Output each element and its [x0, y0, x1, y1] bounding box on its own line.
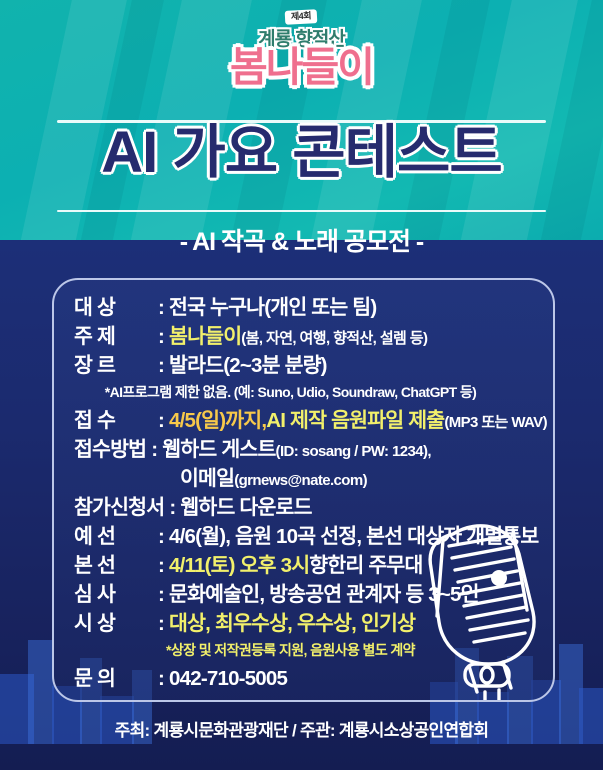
- details-panel: 대 상 : 전국 누구나(개인 또는 팀) 주 제 : 봄나들이 (봄, 자연,…: [52, 278, 555, 702]
- logo-name: 봄나들이: [0, 48, 603, 87]
- detail-value: 발라드(2~3분 분량): [169, 351, 327, 380]
- detail-value-highlight: 대상, 최우수상, 우수상, 인기상: [169, 609, 415, 638]
- divider-bottom: [57, 210, 546, 212]
- contact-phone: 042-710-5005: [169, 664, 287, 693]
- detail-label: 장 르: [74, 351, 158, 380]
- detail-colon: :: [158, 293, 164, 322]
- detail-row-submission: 접 수 : 4/5(일)까지, AI 제작 음원파일 제출 (MP3 또는 WA…: [54, 406, 553, 435]
- detail-row-application-form: 참가신청서 : 웹하드 다운로드: [54, 493, 553, 522]
- detail-label: 대 상: [74, 293, 158, 322]
- detail-value-note: (MP3 또는 WAV): [444, 412, 547, 433]
- detail-label: 문 의: [74, 664, 158, 693]
- detail-colon: :: [158, 351, 164, 380]
- detail-value-note: (봄, 자연, 여행, 향적산, 설렘 등): [241, 328, 427, 349]
- event-logo: 제4회 계룡 향적산 봄나들이: [0, 6, 603, 87]
- detail-value-highlight: 봄나들이: [169, 322, 241, 351]
- detail-colon: :: [158, 551, 164, 580]
- logo-edition: 제4회: [285, 9, 318, 25]
- detail-value: 웹하드 게스트: [162, 435, 275, 464]
- detail-credentials: (ID: sosang / PW: 1234),: [276, 441, 431, 462]
- detail-row-preliminary: 예 선 : 4/6(월), 음원 10곡 선정, 본선 대상자 개별통보: [54, 522, 553, 551]
- detail-value-highlight: AI 제작 음원파일 제출: [266, 406, 444, 435]
- detail-value: 전국 누구나(개인 또는 팀): [169, 293, 376, 322]
- detail-colon: :: [158, 664, 164, 693]
- email-label: 이메일: [180, 464, 234, 493]
- detail-row-submission-method: 접수방법 : 웹하드 게스트 (ID: sosang / PW: 1234),: [54, 435, 553, 464]
- detail-label: 본 선: [74, 551, 158, 580]
- detail-label: 시 상: [74, 609, 158, 638]
- detail-colon: :: [158, 522, 164, 551]
- detail-final-datetime: 4/11(토) 오후 3시: [169, 551, 309, 580]
- detail-label: 접 수: [74, 406, 158, 435]
- detail-row-theme: 주 제 : 봄나들이 (봄, 자연, 여행, 향적산, 설렘 등): [54, 322, 553, 351]
- detail-row-target: 대 상 : 전국 누구나(개인 또는 팀): [54, 293, 553, 322]
- detail-colon: :: [158, 580, 164, 609]
- details-list: 대 상 : 전국 누구나(개인 또는 팀) 주 제 : 봄나들이 (봄, 자연,…: [54, 280, 553, 693]
- detail-label: 예 선: [74, 522, 158, 551]
- detail-final-venue: 향한리 주무대: [309, 551, 422, 580]
- detail-row-judges: 심 사 : 문화예술인, 방송공연 관계자 등 3~5인: [54, 580, 553, 609]
- detail-colon: :: [169, 493, 175, 522]
- detail-colon: :: [158, 406, 164, 435]
- detail-row-awards: 시 상 : 대상, 최우수상, 우수상, 인기상: [54, 609, 553, 638]
- detail-row-final: 본 선 : 4/11(토) 오후 3시 향한리 주무대: [54, 551, 553, 580]
- detail-row-email: 이메일 (grnews@nate.com): [54, 464, 553, 493]
- note-prize-support: *상장 및 저작권등록 지원, 음원사용 별도 계약: [54, 638, 553, 663]
- detail-colon: :: [151, 435, 157, 464]
- detail-value: 문화예술인, 방송공연 관계자 등 3~5인: [169, 580, 479, 609]
- note-ai-programs: *AI프로그램 제한 없음. (예: Suno, Udio, Soundraw,…: [54, 380, 553, 405]
- detail-label: 접수방법: [74, 435, 146, 464]
- detail-colon: :: [158, 609, 164, 638]
- detail-colon: :: [158, 322, 164, 351]
- detail-label: 심 사: [74, 580, 158, 609]
- detail-value: 웹하드 다운로드: [180, 493, 311, 522]
- organizer-footer: 주최: 계룡시문화관광재단 / 주관: 계룡시소상공인연합회: [0, 716, 603, 741]
- email-address: (grnews@nate.com): [234, 470, 367, 491]
- detail-row-contact: 문 의 : 042-710-5005: [54, 664, 553, 693]
- page-title: AI 가요 콘테스트: [0, 124, 603, 182]
- page-subtitle: - AI 작곡 & 노래 공모전 -: [0, 222, 603, 258]
- detail-row-genre: 장 르 : 발라드(2~3분 분량): [54, 351, 553, 380]
- detail-label: 주 제: [74, 322, 158, 351]
- detail-label: 참가신청서: [74, 493, 164, 522]
- detail-value: 4/6(월), 음원 10곡 선정, 본선 대상자 개별통보: [169, 522, 538, 551]
- poster-root: 제4회 계룡 향적산 봄나들이 AI 가요 콘테스트 - AI 작곡 & 노래 …: [0, 0, 603, 770]
- detail-deadline: 4/5(일)까지,: [169, 406, 266, 435]
